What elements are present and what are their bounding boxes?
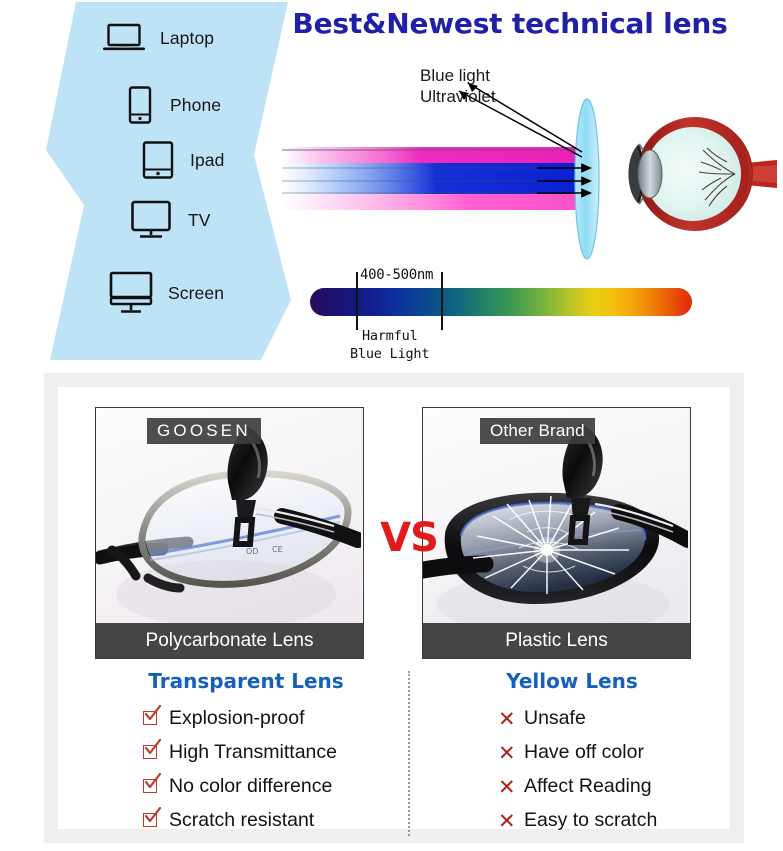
harmful-label-line2: Blue Light xyxy=(350,346,429,362)
column-divider xyxy=(408,671,410,836)
feature-item: ✕ Affect Reading xyxy=(422,775,722,798)
goosen-glasses-scene: OD CE xyxy=(96,408,363,658)
comparison-inner: OD CE GOOSEN Polycarbonate Lens xyxy=(58,387,730,829)
feature-item: ✕ Unsafe xyxy=(422,707,722,730)
feature-label: Explosion-proof xyxy=(169,707,305,730)
device-list: Laptop Phone xyxy=(60,6,290,356)
svg-text:OD: OD xyxy=(246,547,258,556)
brand-badge-goosen: GOOSEN xyxy=(147,418,261,444)
feature-label: Unsafe xyxy=(524,707,586,730)
cross-mark-icon: ✕ xyxy=(498,709,515,729)
device-label: Laptop xyxy=(160,28,214,49)
top-diagram-section: Laptop Phone xyxy=(0,0,783,370)
device-item-phone: Phone xyxy=(128,86,221,124)
column-heading-yellow: Yellow Lens xyxy=(422,669,722,693)
phone-icon xyxy=(128,86,152,124)
feature-item: No color difference xyxy=(96,775,396,798)
eye-anatomy-illustration xyxy=(617,112,783,238)
feature-column-left: Transparent Lens Explosion-proof High Tr… xyxy=(96,669,396,843)
spectrum-tick-start xyxy=(356,272,358,330)
feature-item: Explosion-proof xyxy=(96,707,396,730)
cross-mark-icon: ✕ xyxy=(498,811,515,831)
feature-item: ✕ Easy to scratch xyxy=(422,809,722,832)
feature-label: Scratch resistant xyxy=(169,809,314,832)
spectrum-range-label: 400-500nm xyxy=(360,267,433,283)
cross-mark-icon: ✕ xyxy=(498,777,515,797)
feature-item: ✕ Have off color xyxy=(422,741,722,764)
comparison-section: OD CE GOOSEN Polycarbonate Lens xyxy=(44,373,744,843)
light-spectrum-scale: 400-500nm Harmful Blue Light xyxy=(300,262,700,370)
brand-badge-other: Other Brand xyxy=(480,418,595,444)
other-brand-glasses-scene xyxy=(423,408,690,658)
feature-item: Scratch resistant xyxy=(96,809,396,832)
checkbox-checked-icon xyxy=(143,812,160,829)
harmful-label-line1: Harmful xyxy=(362,328,418,344)
spectrum-tick-end xyxy=(441,272,443,330)
device-item-tv: TV xyxy=(130,200,211,240)
checkbox-checked-icon xyxy=(143,744,160,761)
column-heading-transparent: Transparent Lens xyxy=(96,669,396,693)
checkbox-checked-icon xyxy=(143,710,160,727)
feature-label: High Transmittance xyxy=(169,741,337,764)
tablet-icon xyxy=(142,141,174,179)
infographic-page: Laptop Phone xyxy=(0,0,783,851)
feature-column-right: Yellow Lens ✕ Unsafe ✕ Have off color ✕ … xyxy=(422,669,722,843)
laptop-icon xyxy=(102,22,146,54)
caption-plastic: Plastic Lens xyxy=(423,623,690,658)
page-title: Best&Newest technical lens xyxy=(290,7,730,40)
device-item-screen: Screen xyxy=(108,271,224,315)
ray-label-line2: Ultraviolet xyxy=(420,87,496,106)
ray-label: Blue light Ultraviolet xyxy=(420,66,496,107)
device-label: Ipad xyxy=(190,150,224,171)
tv-icon xyxy=(130,200,172,240)
device-item-ipad: Ipad xyxy=(142,141,224,179)
device-label: Phone xyxy=(170,95,221,116)
spectrum-gradient-bar xyxy=(310,288,692,316)
checkbox-checked-icon xyxy=(143,778,160,795)
cross-mark-icon: ✕ xyxy=(498,743,515,763)
feature-label: Have off color xyxy=(524,741,644,764)
feature-label: Affect Reading xyxy=(524,775,652,798)
device-label: TV xyxy=(188,210,211,231)
ray-label-line1: Blue light xyxy=(420,66,490,85)
device-item-laptop: Laptop xyxy=(102,22,214,54)
product-photo-other-brand: Other Brand Plastic Lens xyxy=(422,407,691,659)
caption-polycarbonate: Polycarbonate Lens xyxy=(96,623,363,658)
monitor-icon xyxy=(108,271,154,315)
vs-label: VS xyxy=(364,515,454,561)
feature-label: Easy to scratch xyxy=(524,809,657,832)
product-photo-goosen: OD CE GOOSEN Polycarbonate Lens xyxy=(95,407,364,659)
feature-label: No color difference xyxy=(169,775,332,798)
svg-text:CE: CE xyxy=(272,545,283,554)
device-label: Screen xyxy=(168,283,224,304)
feature-item: High Transmittance xyxy=(96,741,396,764)
